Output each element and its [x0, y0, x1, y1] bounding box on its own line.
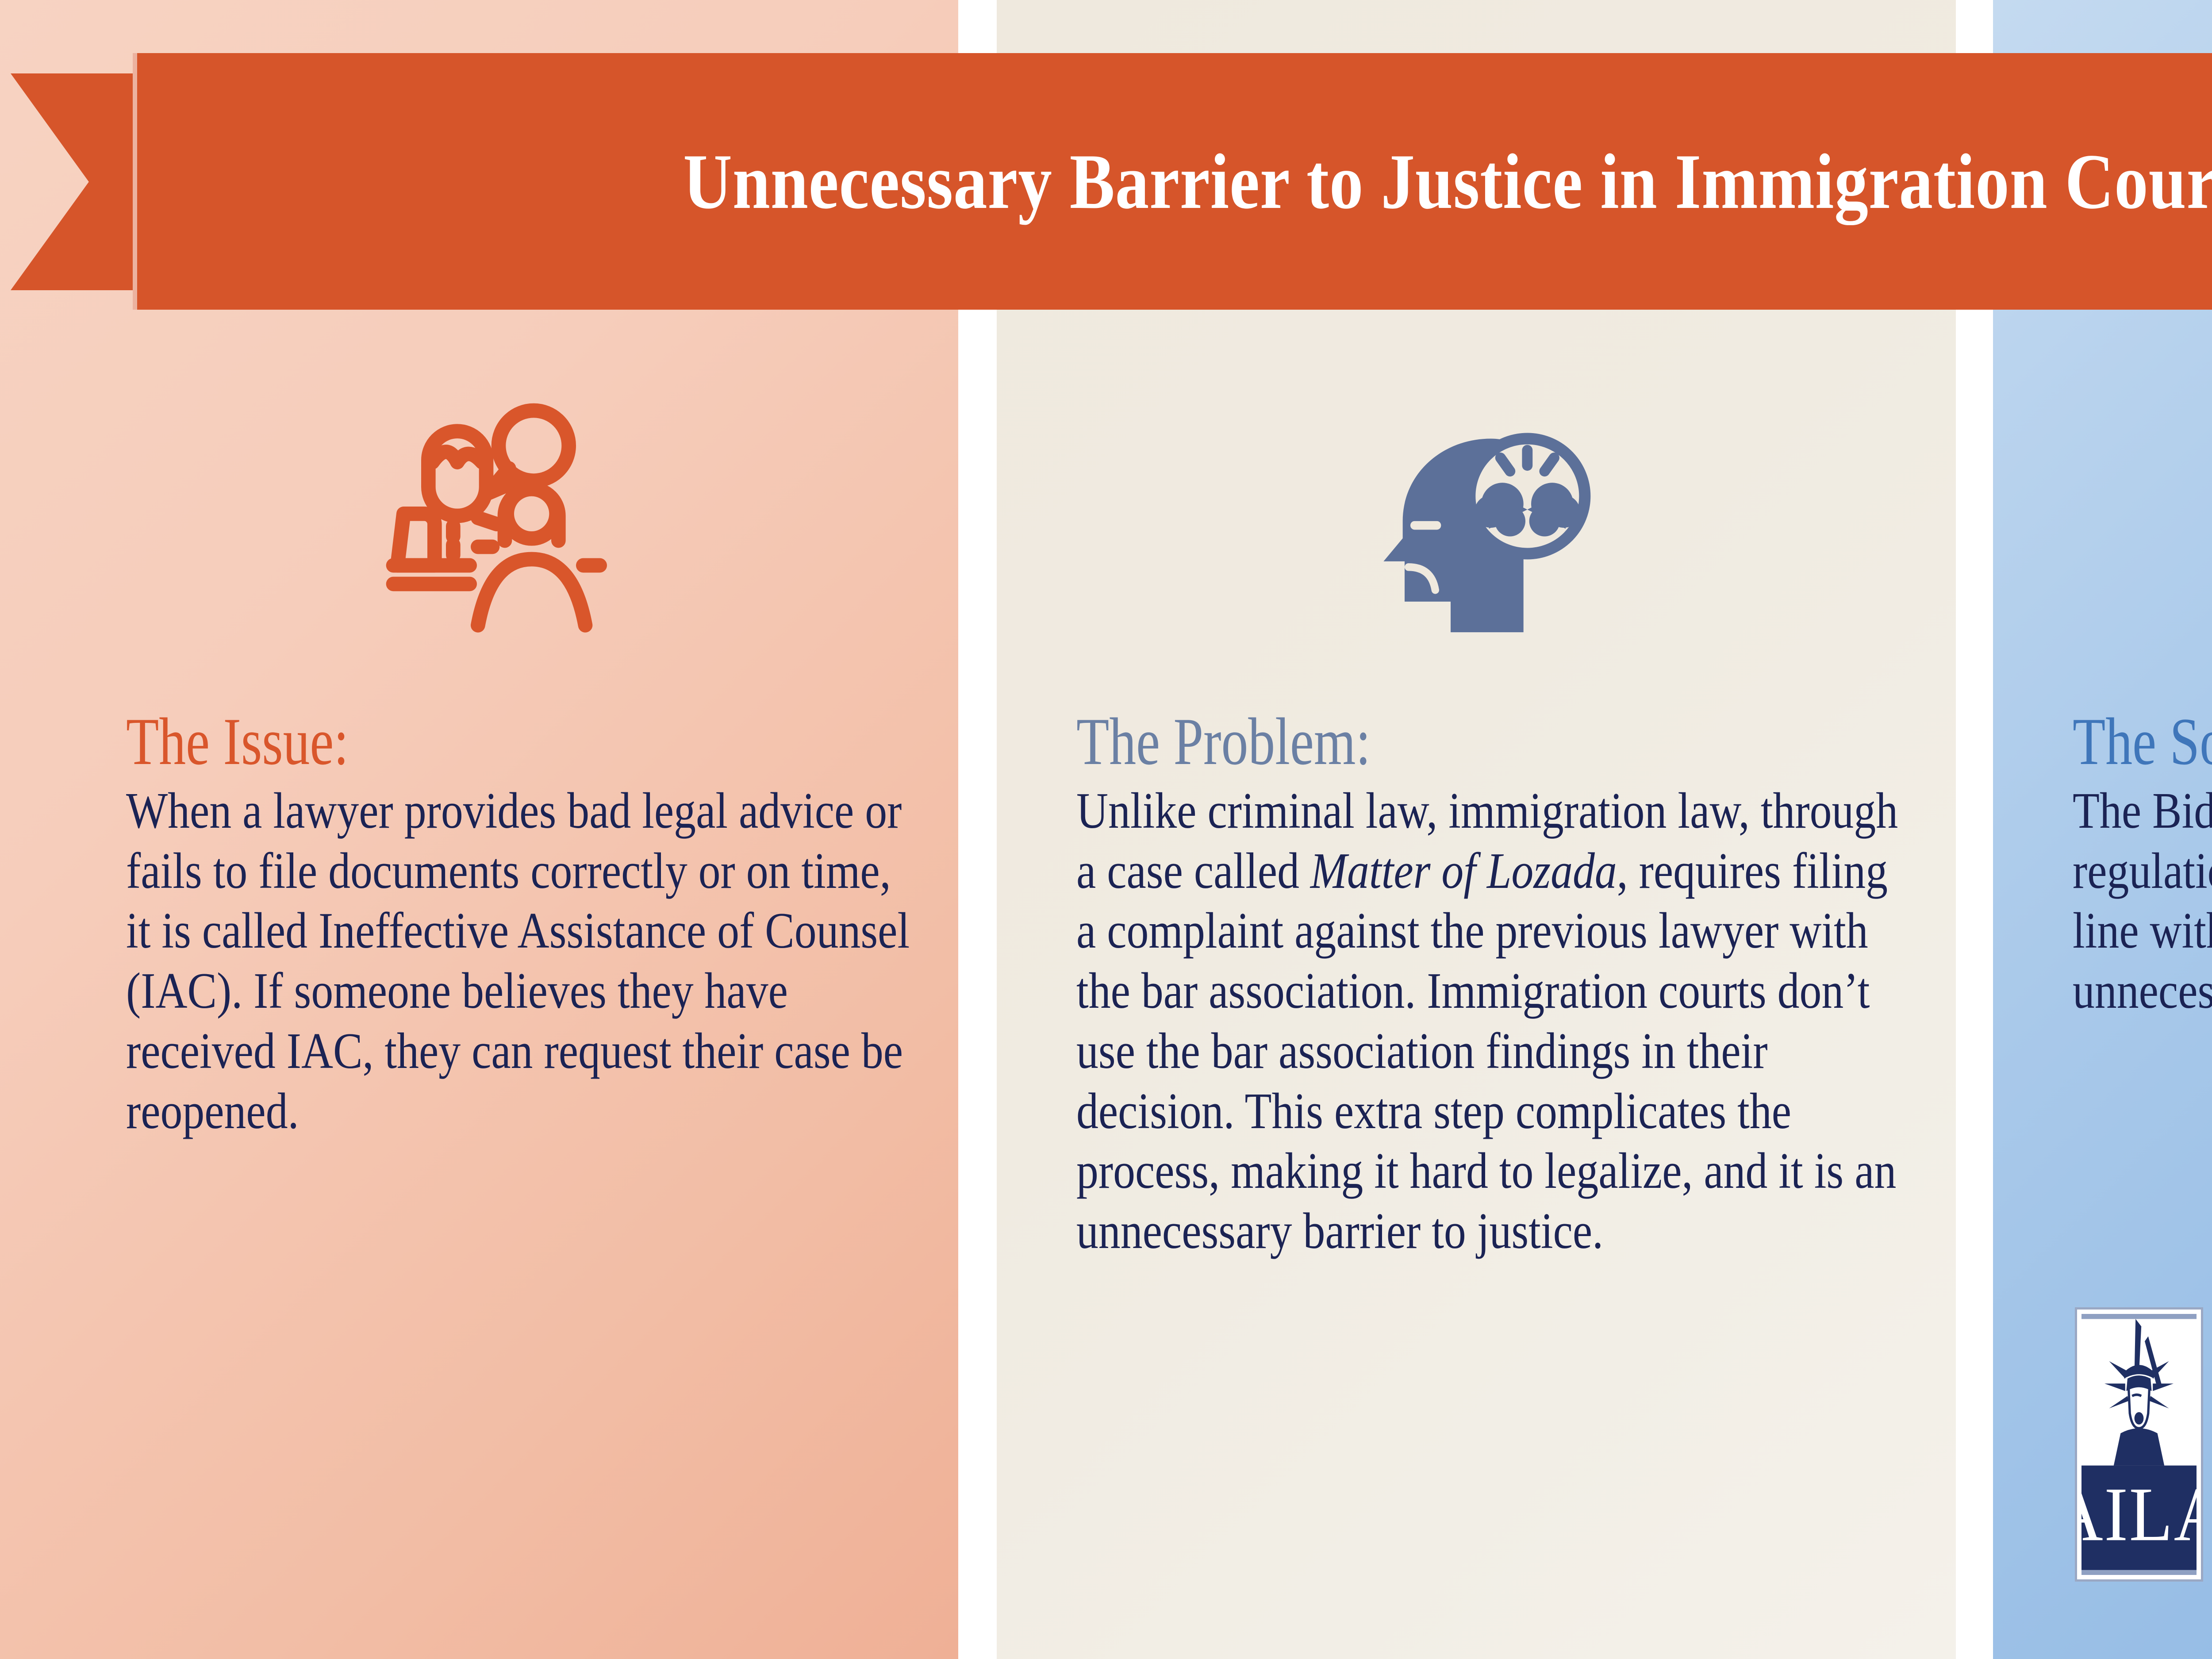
svg-text:AILA: AILA — [2081, 1472, 2197, 1557]
statue-of-liberty-icon: AILA — [2081, 1314, 2197, 1575]
confused-head-icon — [1370, 411, 1600, 633]
icon-container-problem — [997, 336, 1956, 708]
text-container-solution: The Solution: The Biden Administration c… — [1993, 708, 2212, 1022]
body-solution: The Biden Administration can issue regul… — [2073, 781, 2212, 1022]
text-container-issue: The Issue: When a lawyer provides bad le… — [0, 708, 958, 1141]
heading-problem: The Problem: — [1076, 708, 1748, 775]
icon-container-issue — [0, 336, 958, 708]
section-problem: The Problem: Unlike criminal law, immigr… — [997, 336, 1956, 1262]
page-title: Unnecessary Barrier to Justice in Immigr… — [683, 142, 2212, 221]
body-problem-case-name: Matter of Lozada — [1310, 843, 1617, 899]
body-problem-part2: , requires filing a complaint against th… — [1076, 843, 1896, 1260]
aila-logo-mark-inner: AILA — [2081, 1314, 2197, 1575]
heading-solution: The Solution: — [2073, 708, 2212, 775]
icon-container-solution — [1993, 336, 2212, 708]
section-issue: The Issue: When a lawyer provides bad le… — [0, 336, 958, 1141]
text-container-problem: The Problem: Unlike criminal law, immigr… — [997, 708, 1956, 1262]
aila-logo-mark: AILA — [2075, 1307, 2203, 1582]
body-problem: Unlike criminal law, immigration law, th… — [1076, 781, 1914, 1262]
banner-ribbon: Unnecessary Barrier to Justice in Immigr… — [0, 53, 2212, 310]
ribbon-body: Unnecessary Barrier to Justice in Immigr… — [133, 53, 2212, 310]
people-conversation-icon — [369, 398, 616, 646]
body-issue: When a lawyer provides bad legal advice … — [126, 781, 917, 1141]
section-solution: The Solution: The Biden Administration c… — [1993, 336, 2212, 1022]
aila-logo: AILA AMERICAN IMMIGRATION LAWYERS ASSOCI… — [2075, 1307, 2212, 1582]
heading-issue: The Issue: — [126, 708, 760, 775]
